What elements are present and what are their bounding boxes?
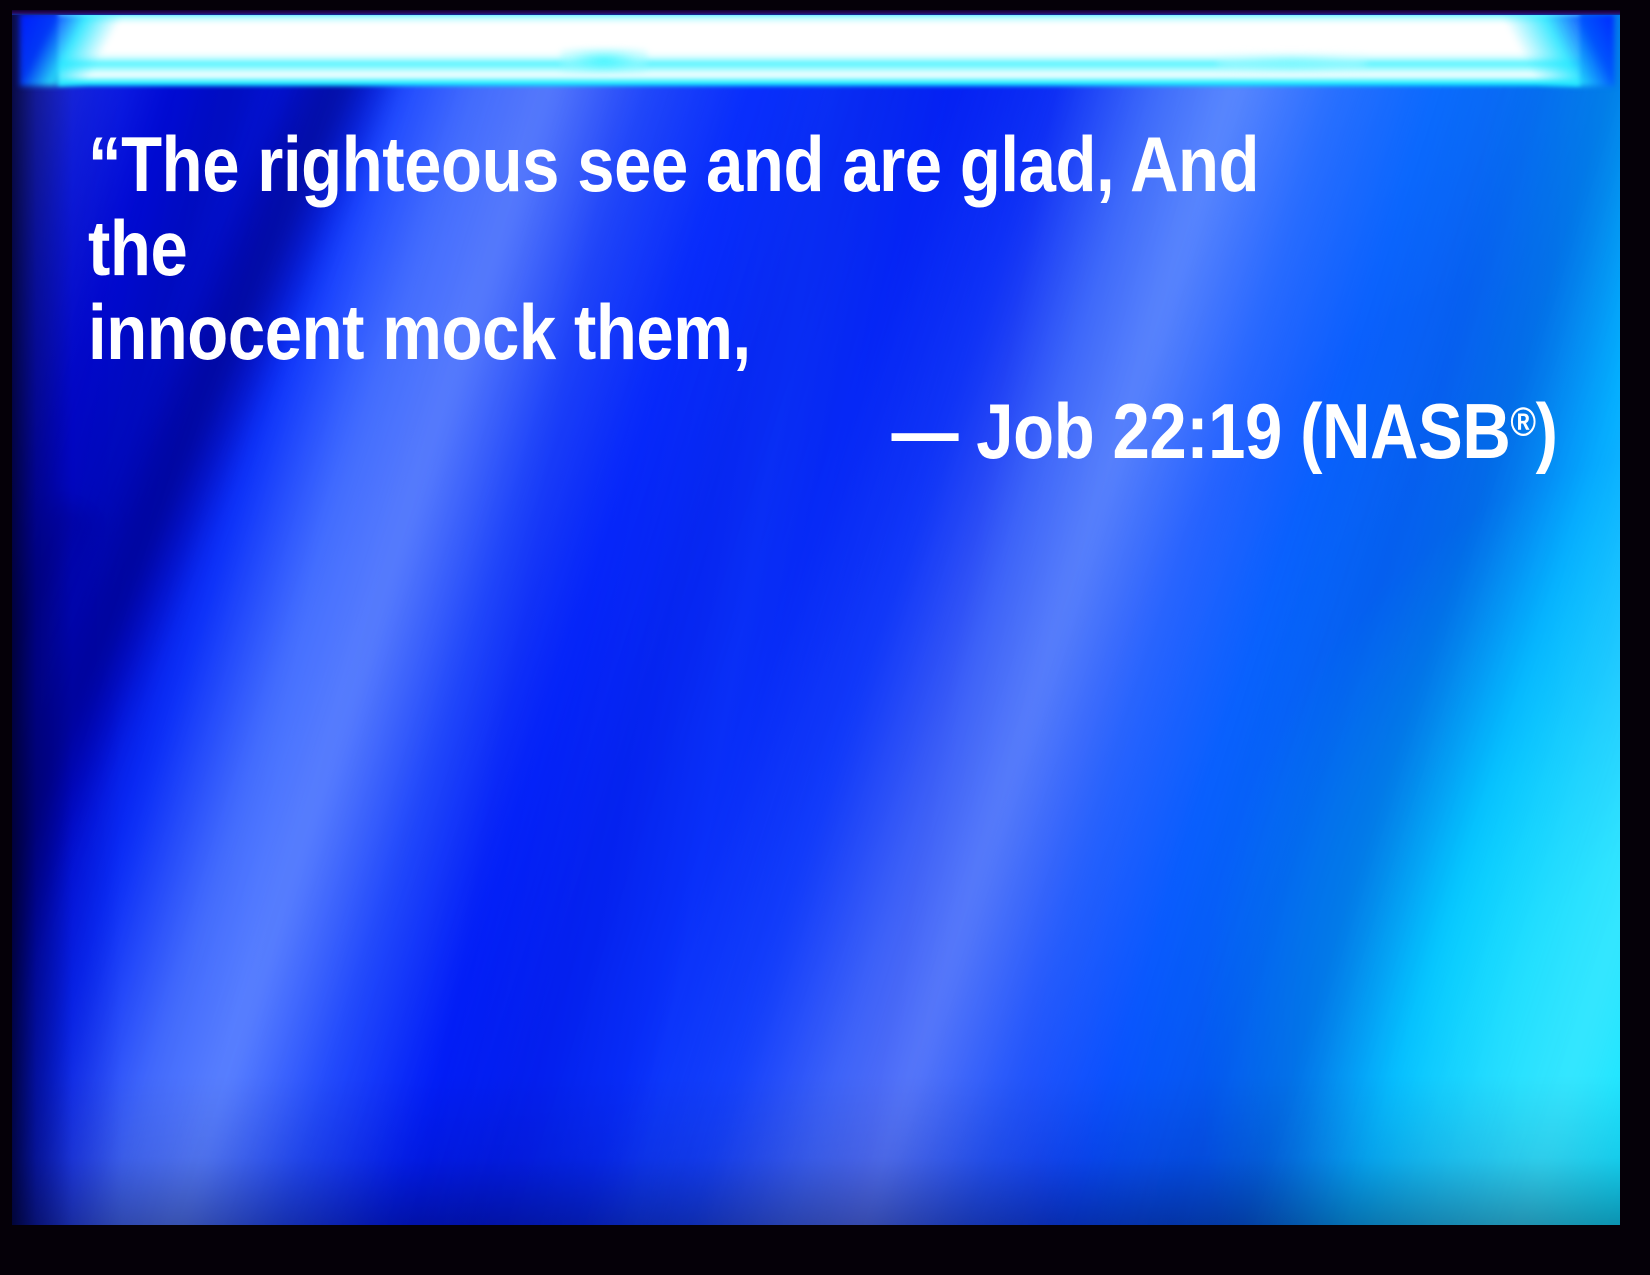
top-light-band-cyan-blob-secondary <box>1217 54 1367 72</box>
top-dark-seam <box>12 10 1620 15</box>
verse-attribution-inner: — Job 22:19 (NASB®) <box>892 389 1558 473</box>
verse-block: “The righteous see and are glad, And the… <box>88 122 1558 473</box>
verse-line-1: “The righteous see and are glad, And the <box>88 122 1352 290</box>
top-light-band-cyan-blob <box>560 48 648 74</box>
attribution-translation-close: ) <box>1536 387 1558 475</box>
top-light-band-left-shoulder <box>20 14 150 86</box>
attribution-em-dash: — <box>892 387 959 475</box>
verse-line-2: innocent mock them, <box>88 290 1352 374</box>
top-light-band-right-shoulder <box>1474 14 1614 86</box>
attribution-reference: Job 22:19 <box>977 387 1283 475</box>
registered-trademark-icon: ® <box>1511 398 1536 444</box>
top-light-band <box>12 10 1620 96</box>
attribution-translation-open: (NASB <box>1301 387 1511 475</box>
verse-attribution: — Job 22:19 (NASB®) <box>88 389 1558 473</box>
slide-canvas: “The righteous see and are glad, And the… <box>12 10 1620 1225</box>
slide-frame: “The righteous see and are glad, And the… <box>0 0 1650 1275</box>
background-bottom-edge-shade <box>12 1075 1620 1225</box>
top-light-band-core <box>58 12 1580 86</box>
